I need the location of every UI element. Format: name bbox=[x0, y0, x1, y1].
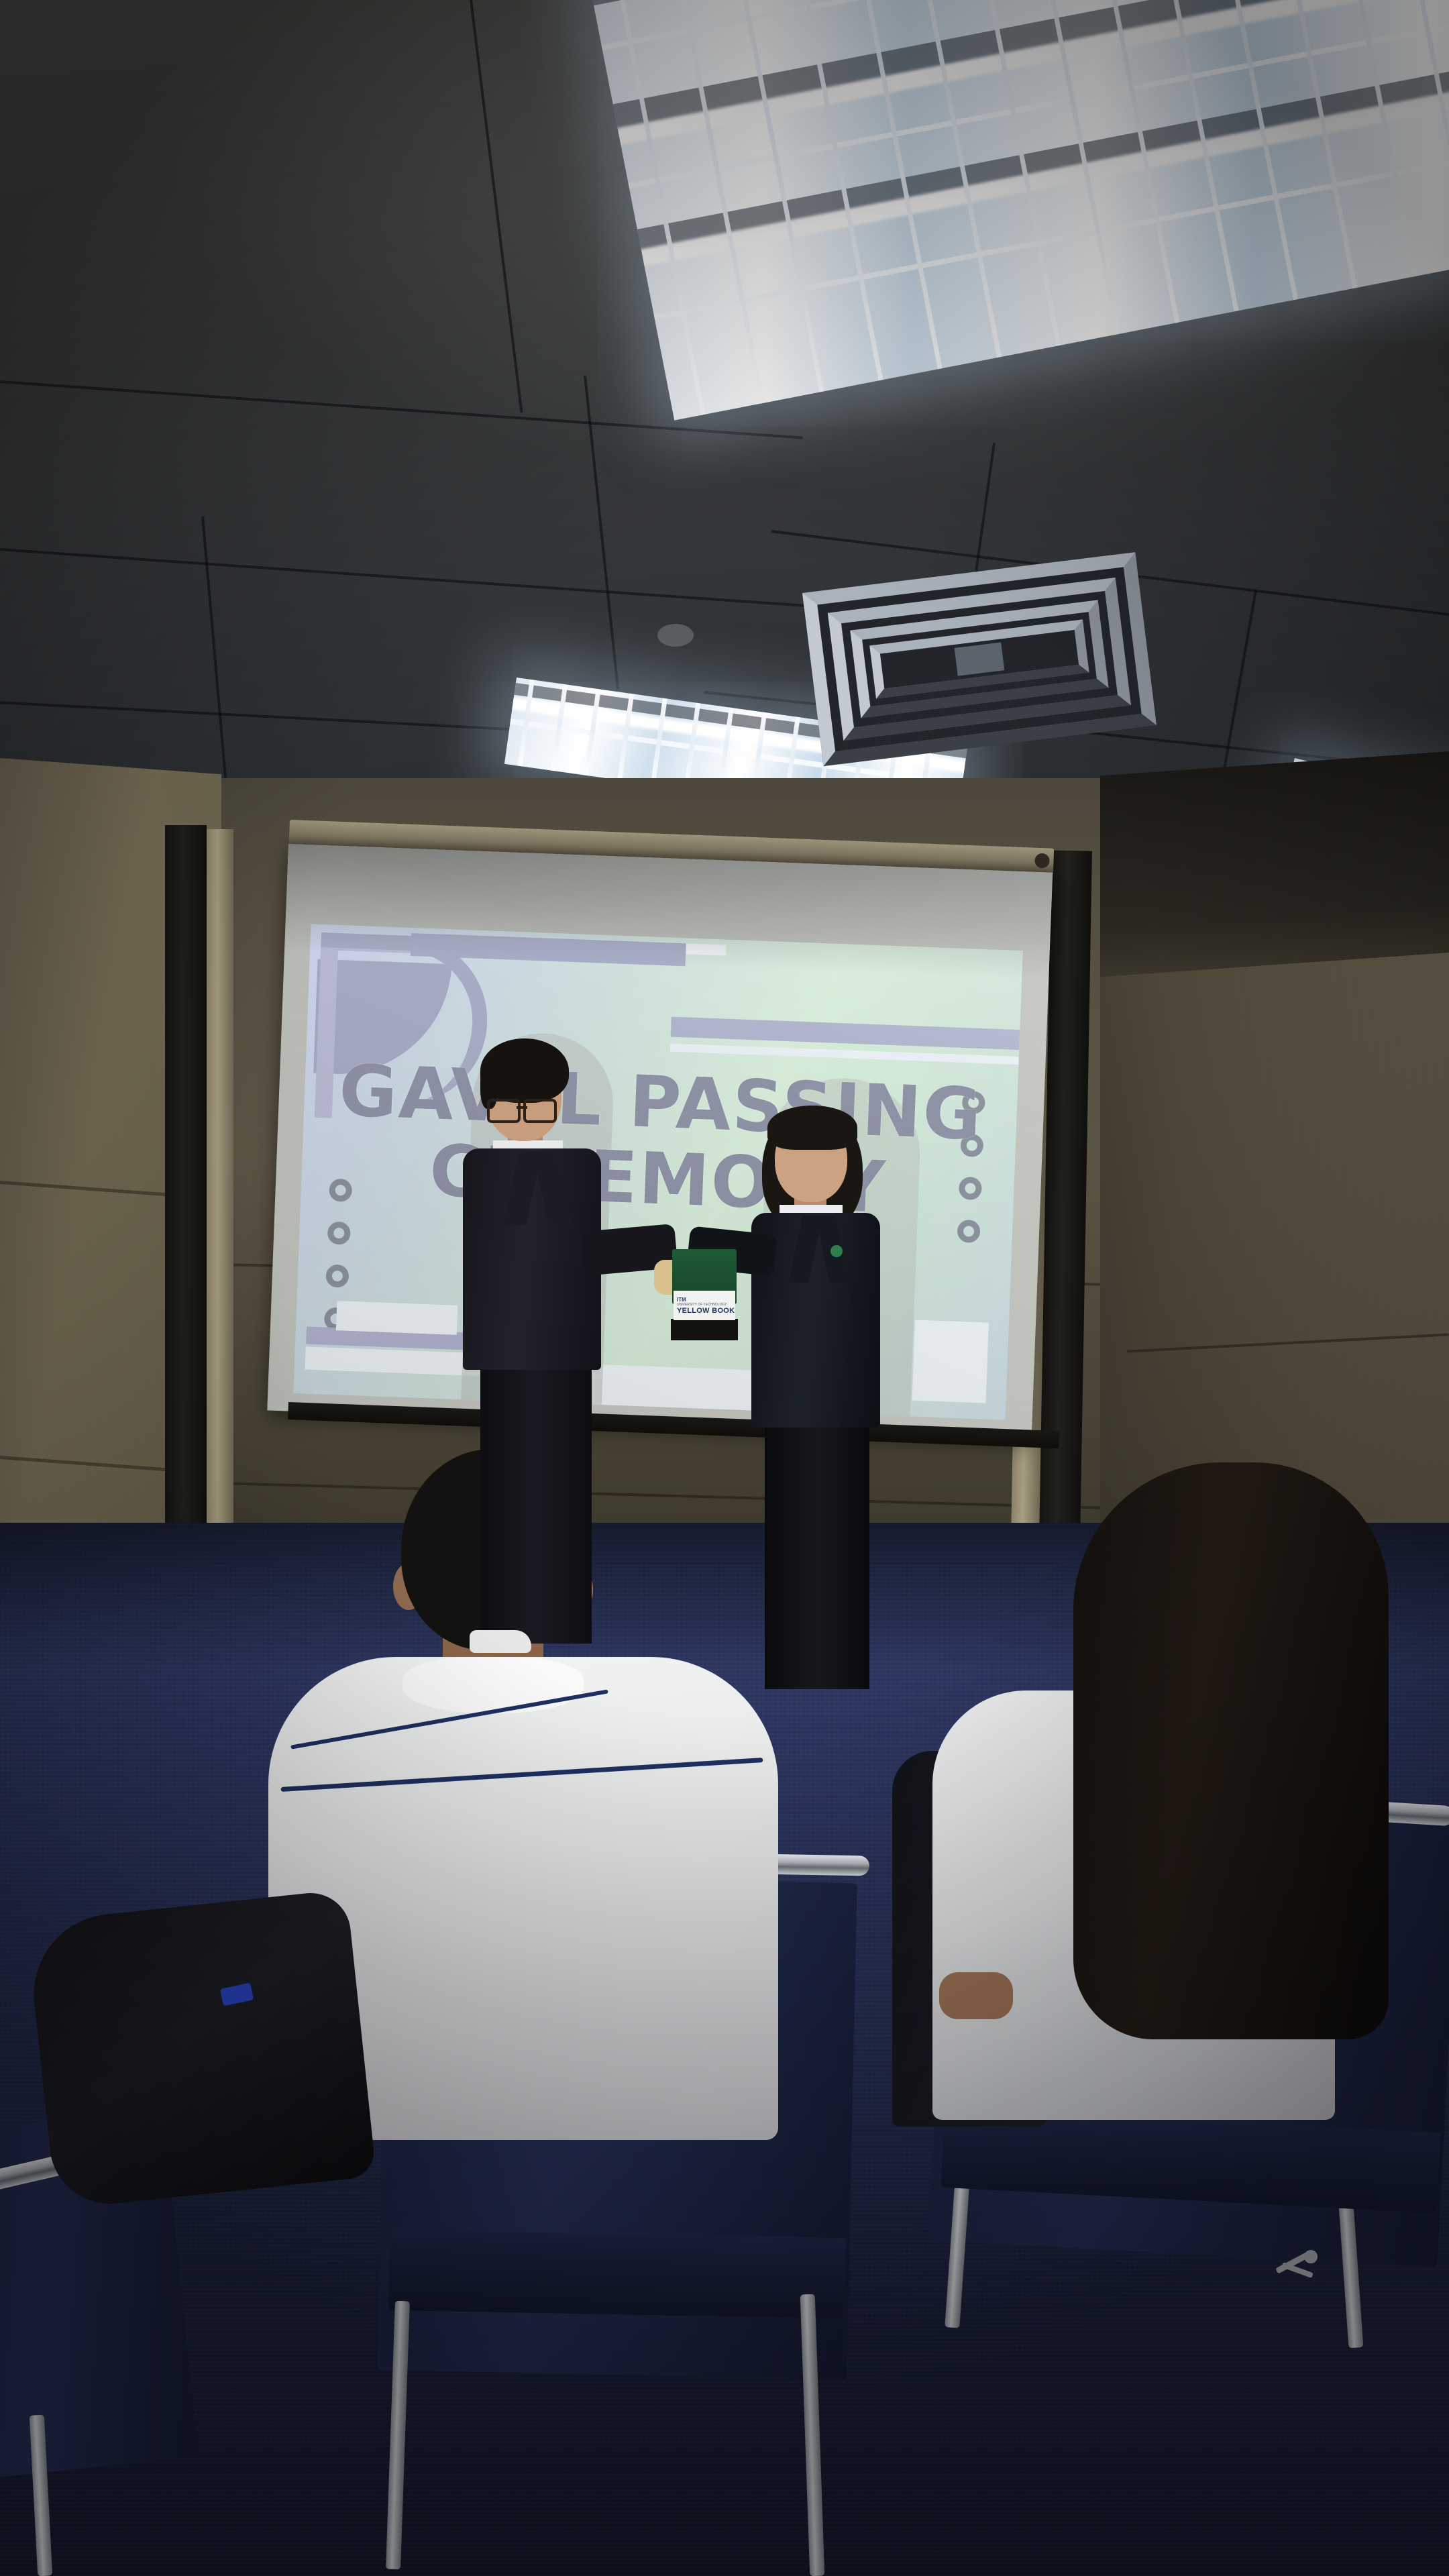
slide-lower-block-left bbox=[336, 1301, 458, 1335]
presenter-right-trousers bbox=[765, 1421, 869, 1689]
presentation-slide: GAVEL PASSING CEREMONY bbox=[293, 924, 1023, 1419]
audience-right-hair bbox=[1073, 1462, 1389, 2039]
presenter-left-shoe bbox=[470, 1630, 531, 1653]
slide-dot bbox=[325, 1265, 349, 1288]
photograph-scene: GAVEL PASSING CEREMONY bbox=[0, 0, 1449, 2576]
roller-endcap bbox=[1034, 853, 1050, 869]
slide-title: GAVEL PASSING CEREMONY bbox=[301, 1051, 1018, 1232]
slide-lower-block-right bbox=[912, 1320, 989, 1403]
draped-jacket bbox=[26, 1889, 376, 2210]
presenter-right-fringe bbox=[767, 1106, 857, 1150]
pillar-left-trim bbox=[207, 829, 233, 1547]
chair-center-seat bbox=[388, 2230, 846, 2318]
audience-right-hand bbox=[939, 1972, 1013, 2019]
pillar-left bbox=[165, 825, 207, 1550]
presenter-left-trousers bbox=[480, 1362, 592, 1644]
diffuser-core bbox=[955, 643, 1005, 676]
ceremonial-book-base bbox=[671, 1319, 738, 1340]
book-label-line1: ITM bbox=[677, 1297, 735, 1303]
eyeglasses-icon bbox=[487, 1099, 557, 1119]
lapel-pin-icon bbox=[830, 1245, 843, 1257]
slide-top-tab bbox=[686, 943, 727, 955]
projection-screen: GAVEL PASSING CEREMONY bbox=[267, 844, 1053, 1439]
audience-front-collar bbox=[402, 1657, 584, 1713]
ceiling-sensor bbox=[657, 624, 694, 647]
book-label-line3: YELLOW BOOK bbox=[677, 1307, 735, 1315]
slide-dot bbox=[327, 1222, 351, 1245]
keys-on-floor bbox=[1275, 2247, 1322, 2286]
ceiling bbox=[0, 0, 1449, 865]
ceremonial-book-label: ITM UNIVERSITY OF TECHNOLOGY YELLOW BOOK bbox=[674, 1291, 735, 1320]
